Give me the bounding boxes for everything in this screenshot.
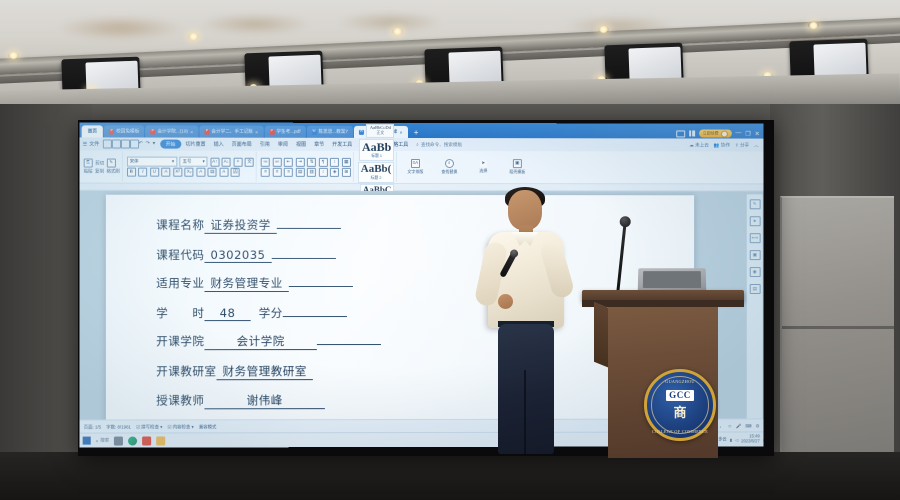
vip-renew-button[interactable]: 立即续费 bbox=[699, 130, 732, 138]
clock-date: 2023/6/27 bbox=[741, 439, 759, 444]
edge-icon[interactable] bbox=[128, 436, 137, 445]
distribute-icon[interactable]: ▥ bbox=[307, 167, 316, 176]
pen-icon[interactable]: ✎ bbox=[749, 199, 760, 209]
field-value[interactable]: 0302035 bbox=[204, 247, 271, 262]
cursor-icon: ➤ bbox=[480, 160, 487, 167]
screen-capture-icon[interactable]: ▣ bbox=[749, 250, 760, 260]
char-border-icon[interactable]: 囚 bbox=[231, 168, 240, 177]
spellcheck-button[interactable]: ☑ 拼写检查 ▾ bbox=[136, 424, 162, 430]
field-value[interactable]: 财务管理教研室 bbox=[217, 363, 313, 380]
tab-label: 会计学二、手工记账 bbox=[211, 129, 253, 135]
superscript-icon[interactable]: X² bbox=[173, 168, 182, 177]
align-left-icon[interactable]: ≡ bbox=[261, 167, 270, 176]
highlight-color-icon[interactable]: ▤ bbox=[208, 168, 217, 177]
text-layout-icon: ≡A bbox=[411, 159, 420, 168]
field-label: 学 时 bbox=[156, 305, 204, 321]
doc-line[interactable]: 课程名称 证券投资学 bbox=[156, 217, 694, 234]
taskbar-search[interactable]: ⌕ 搜索 bbox=[96, 438, 109, 444]
magnifier-icon: ⌕ bbox=[445, 159, 454, 168]
taskbar-search-label: 搜索 bbox=[100, 438, 109, 444]
shading-icon[interactable]: ◈ bbox=[330, 167, 339, 176]
app-grid-icon[interactable] bbox=[689, 130, 695, 136]
font-size-value: 五号 bbox=[183, 159, 192, 165]
wpp-file-icon: P bbox=[109, 129, 114, 134]
file-explorer-icon[interactable] bbox=[156, 436, 165, 445]
text-layout-button[interactable]: ≡A 文字排版 bbox=[399, 152, 431, 182]
people-icon: 👥 bbox=[714, 142, 720, 147]
command-search[interactable]: ⌕ 查找命令、搜索模板 bbox=[416, 141, 462, 147]
close-icon[interactable]: ✕ bbox=[399, 129, 402, 134]
lecture-hall-scene: 首页 P 校园免模板 P 会计学院...(19) ✕ P 会计学二、手工记账 bbox=[0, 0, 900, 500]
lectern-body: GUANGZHOU GCC 商 COLLEGE OF COMMERCE bbox=[608, 307, 718, 458]
ribbon-tab-reference[interactable]: 引用 bbox=[256, 141, 274, 148]
avatar[interactable] bbox=[721, 130, 728, 137]
share-button[interactable]: ⇪ 分享 bbox=[735, 142, 749, 148]
ribbon-right-actions: ☁ 未上云 👥 协作 ⇪ 分享 ︿ bbox=[689, 142, 760, 148]
font-size-select[interactable]: 五号▾ bbox=[180, 157, 208, 167]
compat-mode-label: 兼容模式 bbox=[199, 424, 217, 430]
show-marks-icon[interactable]: ¶ bbox=[319, 157, 328, 166]
ribbon-tab-view[interactable]: 视图 bbox=[292, 141, 310, 148]
tab-label: 校园免模板 bbox=[116, 128, 139, 134]
docer-template-label: 稻壳模板 bbox=[509, 169, 525, 175]
search-icon: ⌕ bbox=[416, 142, 419, 147]
line-spacing-icon[interactable]: ↕ bbox=[330, 157, 339, 166]
emblem-top-text: GUANGZHOU bbox=[647, 379, 713, 384]
file-menu-button[interactable]: ☰ 文件 bbox=[83, 140, 103, 147]
style-label: 正文 bbox=[377, 131, 385, 136]
paragraph-group: ≔ ≕ ⇤ ⇥ ⇅ ¶ ↕ ▦ ≡ ≡ ≡ bbox=[259, 152, 354, 182]
ribbon-collapse-icon[interactable]: ︿ bbox=[754, 142, 759, 148]
chevron-down-icon: ▾ bbox=[172, 159, 174, 165]
window-controls: 立即续费 — ❐ ✕ bbox=[676, 129, 764, 138]
cursor-select-icon[interactable]: ➤ bbox=[749, 216, 760, 226]
vip-label: 立即续费 bbox=[703, 131, 719, 137]
pdf-file-icon: P bbox=[269, 129, 274, 134]
cloud-icon: ☁ bbox=[689, 142, 694, 147]
presenter-trousers bbox=[498, 324, 554, 454]
table-borders-icon[interactable]: ⊞ bbox=[342, 167, 351, 176]
field-value[interactable]: 谢伟峰 bbox=[204, 392, 324, 409]
task-view-icon[interactable] bbox=[114, 436, 123, 445]
ime-voice-icon[interactable]: 🎤 bbox=[736, 423, 741, 429]
ceiling-downlight bbox=[392, 28, 403, 35]
window-tabbar: 首页 P 校园免模板 P 会计学院...(19) ✕ P 会计学二、手工记账 bbox=[80, 122, 764, 138]
ceiling bbox=[0, 0, 900, 112]
text-effects-icon[interactable]: A bbox=[196, 168, 205, 177]
maximize-button[interactable]: ❐ bbox=[745, 130, 750, 137]
save-icon[interactable] bbox=[120, 139, 129, 148]
share-icon: ⇪ bbox=[735, 142, 739, 147]
tab-item[interactable]: P 会计学二、手工记账 ✕ bbox=[199, 126, 263, 138]
close-icon[interactable]: ✕ bbox=[255, 129, 258, 134]
style-normal[interactable]: AaBbCcDd 正文 bbox=[366, 124, 394, 139]
ribbon-tab-slice[interactable]: 切片重置 bbox=[181, 141, 209, 148]
wpp-file-icon: P bbox=[150, 129, 155, 134]
style-heading2[interactable]: AaBb( 标题 2 bbox=[358, 162, 395, 183]
field-label-2: 学分 bbox=[251, 305, 283, 321]
font-color-icon[interactable]: A bbox=[219, 168, 228, 177]
presenter-hand bbox=[498, 294, 513, 309]
spellcheck-label: 拼写检查 bbox=[141, 424, 159, 429]
field-label: 开课教研室 bbox=[156, 363, 216, 379]
strikethrough-icon[interactable]: A bbox=[162, 168, 171, 177]
line-spacing-menu-icon[interactable]: ↕ bbox=[319, 167, 328, 176]
find-replace-label: 查找替换 bbox=[441, 169, 457, 175]
tab-label: 会计学院...(19) bbox=[157, 129, 188, 135]
right-tool-strip: ✎ ➤ ⟺ ▣ ◉ ▤ bbox=[747, 194, 763, 443]
grow-font-icon[interactable]: A↑ bbox=[210, 157, 219, 166]
text-layout-label: 文字排版 bbox=[407, 169, 423, 175]
word-file-icon: W bbox=[359, 129, 364, 134]
tab-label: 陈思思...教案7 bbox=[319, 129, 348, 135]
select-button[interactable]: ➤ 选择 bbox=[467, 152, 499, 182]
wpp-file-icon: P bbox=[204, 129, 209, 134]
style-label: 标题 1 bbox=[371, 154, 382, 159]
field-value-tail[interactable] bbox=[289, 286, 353, 287]
align-right-icon[interactable]: ≡ bbox=[284, 167, 293, 176]
field-label: 开课学院 bbox=[156, 333, 204, 349]
search-icon: ⌕ bbox=[96, 438, 98, 443]
redo-icon[interactable]: ↷ bbox=[146, 141, 153, 148]
field-label: 课程名称 bbox=[156, 217, 204, 233]
style-heading1[interactable]: AaBb 标题 1 bbox=[359, 139, 394, 161]
command-search-label: 查找命令、搜索模板 bbox=[421, 141, 462, 147]
page-count: 页面: 1/5 bbox=[84, 424, 101, 430]
field-value-tail[interactable] bbox=[277, 228, 341, 229]
shrink-font-icon[interactable]: A↓ bbox=[222, 157, 231, 166]
new-doc-icon[interactable] bbox=[102, 139, 111, 148]
field-value[interactable]: 会计学院 bbox=[204, 333, 316, 350]
ime-toolbox-icon[interactable]: ⚙ bbox=[756, 423, 760, 429]
ribbon-tab-devtools[interactable]: 开发工具 bbox=[328, 141, 356, 148]
field-value[interactable]: 财务管理专业 bbox=[204, 275, 288, 292]
presentation-icon[interactable]: ▤ bbox=[749, 284, 760, 294]
copy-button[interactable]: 复制 bbox=[95, 169, 104, 175]
field-label: 授课教师 bbox=[156, 392, 204, 408]
tab-home[interactable]: 首页 bbox=[82, 125, 103, 137]
template-icon: ▣ bbox=[513, 159, 522, 168]
presenter-head bbox=[508, 190, 542, 230]
clear-format-icon[interactable]: ✧ bbox=[233, 157, 242, 166]
tab-home-label: 首页 bbox=[88, 128, 97, 134]
pinyin-guide-icon[interactable]: 文 bbox=[245, 157, 254, 166]
select-label: 选择 bbox=[479, 168, 487, 174]
screenshot-icon[interactable] bbox=[676, 130, 685, 137]
style-sample: AaBb( bbox=[361, 164, 392, 175]
ribbon-tab-pagelayout[interactable]: 页面布局 bbox=[228, 141, 256, 148]
field-label: 课程代码 bbox=[156, 246, 204, 262]
decrease-indent-icon[interactable]: ⇤ bbox=[284, 157, 293, 166]
sort-icon[interactable]: ⇅ bbox=[307, 157, 316, 166]
ribbon-tab-section[interactable]: 章节 bbox=[310, 141, 328, 148]
floor bbox=[0, 452, 900, 500]
tab-item[interactable]: P 校园免模板 bbox=[104, 125, 144, 137]
start-button[interactable] bbox=[83, 437, 91, 445]
style-sample: AaBb bbox=[362, 141, 391, 153]
ceiling-downlight bbox=[8, 52, 19, 59]
side-cabinet bbox=[780, 196, 894, 460]
borders-icon[interactable]: ▦ bbox=[342, 157, 351, 166]
field-value[interactable]: 证券投资学 bbox=[204, 217, 276, 234]
align-center-icon[interactable]: ≡ bbox=[273, 167, 282, 176]
ceiling-downlight bbox=[188, 33, 199, 40]
open-icon[interactable] bbox=[111, 139, 120, 148]
close-button[interactable]: ✕ bbox=[755, 130, 760, 137]
ceiling-downlight bbox=[598, 26, 609, 33]
format-painter-label[interactable]: 格式刷 bbox=[106, 169, 119, 175]
word-count: 字数: 8/1981 bbox=[106, 424, 131, 430]
doc-line[interactable]: 课程代码 0302035 bbox=[156, 246, 694, 262]
paste-icon[interactable]: ⎘ bbox=[84, 159, 93, 168]
field-value-tail[interactable] bbox=[317, 344, 381, 345]
contentcheck-label: 内容检查 bbox=[173, 424, 191, 429]
file-menu-label: 文件 bbox=[89, 140, 99, 147]
tab-label: 学生考...pdf bbox=[276, 129, 300, 135]
font-group: 宋体▾ 五号▾ A↑ A↓ ✧ 文 B I bbox=[125, 152, 257, 182]
style-sample: AaBbCcDd bbox=[370, 126, 391, 131]
italic-button[interactable]: I bbox=[138, 168, 147, 177]
tray-volume-icon[interactable]: ◁ bbox=[735, 437, 738, 442]
chevron-down-icon: ▾ bbox=[203, 159, 205, 165]
laptop bbox=[638, 268, 707, 292]
clipboard-group: ⎘ 剪切 ✎ 粘贴 复制 格式刷 bbox=[82, 151, 123, 181]
justify-icon[interactable]: ▤ bbox=[296, 167, 305, 176]
print-icon[interactable] bbox=[130, 140, 139, 149]
docer-template-button[interactable]: ▣ 稻壳模板 bbox=[501, 152, 533, 182]
presenter bbox=[478, 190, 574, 460]
undo-icon[interactable]: ↶ bbox=[139, 141, 146, 148]
cloud-status-button[interactable]: ☁ 未上云 bbox=[689, 142, 709, 148]
ime-keyboard-icon[interactable]: ⌨ bbox=[745, 423, 751, 429]
bullets-icon[interactable]: ≔ bbox=[261, 157, 270, 166]
tab-item[interactable]: P 会计学院...(19) ✕ bbox=[145, 125, 198, 137]
ribbon-tab-start[interactable]: 开始 bbox=[160, 140, 182, 149]
tab-item[interactable]: P 学生考...pdf bbox=[264, 126, 305, 138]
ribbon-tab-review[interactable]: 审阅 bbox=[274, 141, 292, 148]
ribbon-tab-insert[interactable]: 插入 bbox=[210, 141, 228, 148]
font-name-value: 宋体 bbox=[130, 159, 139, 165]
minimize-button[interactable]: — bbox=[735, 131, 741, 137]
subscript-icon[interactable]: X₂ bbox=[185, 168, 194, 177]
field-label: 适用专业 bbox=[156, 275, 204, 291]
new-tab-button[interactable]: + bbox=[409, 128, 424, 138]
font-name-select[interactable]: 宋体▾ bbox=[127, 157, 177, 167]
bold-button[interactable]: B bbox=[127, 168, 136, 177]
share-label: 分享 bbox=[740, 142, 749, 147]
increase-indent-icon[interactable]: ⇥ bbox=[296, 157, 305, 166]
college-emblem: GUANGZHOU GCC 商 COLLEGE OF COMMERCE bbox=[644, 369, 716, 441]
ceiling-downlight bbox=[808, 22, 819, 29]
emblem-ring bbox=[651, 376, 709, 434]
hamburger-icon: ☰ bbox=[83, 141, 88, 147]
find-replace-button[interactable]: ⌕ 查找替换 bbox=[433, 152, 465, 182]
field-value-2[interactable] bbox=[283, 316, 347, 317]
field-value[interactable]: 48 bbox=[204, 306, 250, 321]
ribbon-toolbar: ⎘ 剪切 ✎ 粘贴 复制 格式刷 宋体▾ bbox=[80, 150, 764, 184]
clock[interactable]: 15:49 2023/6/27 bbox=[741, 435, 759, 445]
field-value-tail[interactable] bbox=[271, 257, 335, 258]
paste-label[interactable]: 粘贴 bbox=[84, 169, 93, 175]
collaborate-button[interactable]: 👥 协作 bbox=[714, 142, 730, 148]
cut-button[interactable]: 剪切 bbox=[95, 160, 104, 166]
word-file-icon: W bbox=[312, 129, 317, 134]
contentcheck-button[interactable]: ☑ 内容检查 ▾ bbox=[167, 424, 193, 430]
close-icon[interactable]: ✕ bbox=[190, 129, 193, 134]
globe-icon[interactable]: ◉ bbox=[749, 267, 760, 277]
lectern: GUANGZHOU GCC 商 COLLEGE OF COMMERCE bbox=[594, 290, 732, 458]
action-center-icon[interactable]: ▭ bbox=[763, 437, 764, 442]
chevron-down-icon[interactable]: ▾ bbox=[153, 141, 160, 148]
styles-gallery: AaBbCcDd 正文 AaBb 标题 1 AaBb( 标题 2 AaBbC bbox=[356, 152, 398, 182]
format-painter-icon[interactable]: ✎ bbox=[107, 159, 116, 168]
collaborate-label: 协作 bbox=[721, 142, 730, 147]
cloud-status-label: 未上云 bbox=[695, 142, 709, 147]
style-label: 标题 2 bbox=[371, 176, 382, 181]
emblem-arc-text: COLLEGE OF COMMERCE bbox=[647, 429, 713, 434]
ruler-icon[interactable]: ⟺ bbox=[749, 233, 760, 243]
ribbon-tabbar: ☰ 文件 ↶ ↷ ▾ 开始 切片重置 插入 页面布局 引用 审阅 bbox=[80, 137, 764, 151]
wps-icon[interactable] bbox=[142, 436, 151, 445]
numbering-icon[interactable]: ≕ bbox=[273, 157, 282, 166]
tab-item[interactable]: W 陈思思...教案7 bbox=[306, 126, 352, 138]
underline-button[interactable]: U bbox=[150, 168, 159, 177]
